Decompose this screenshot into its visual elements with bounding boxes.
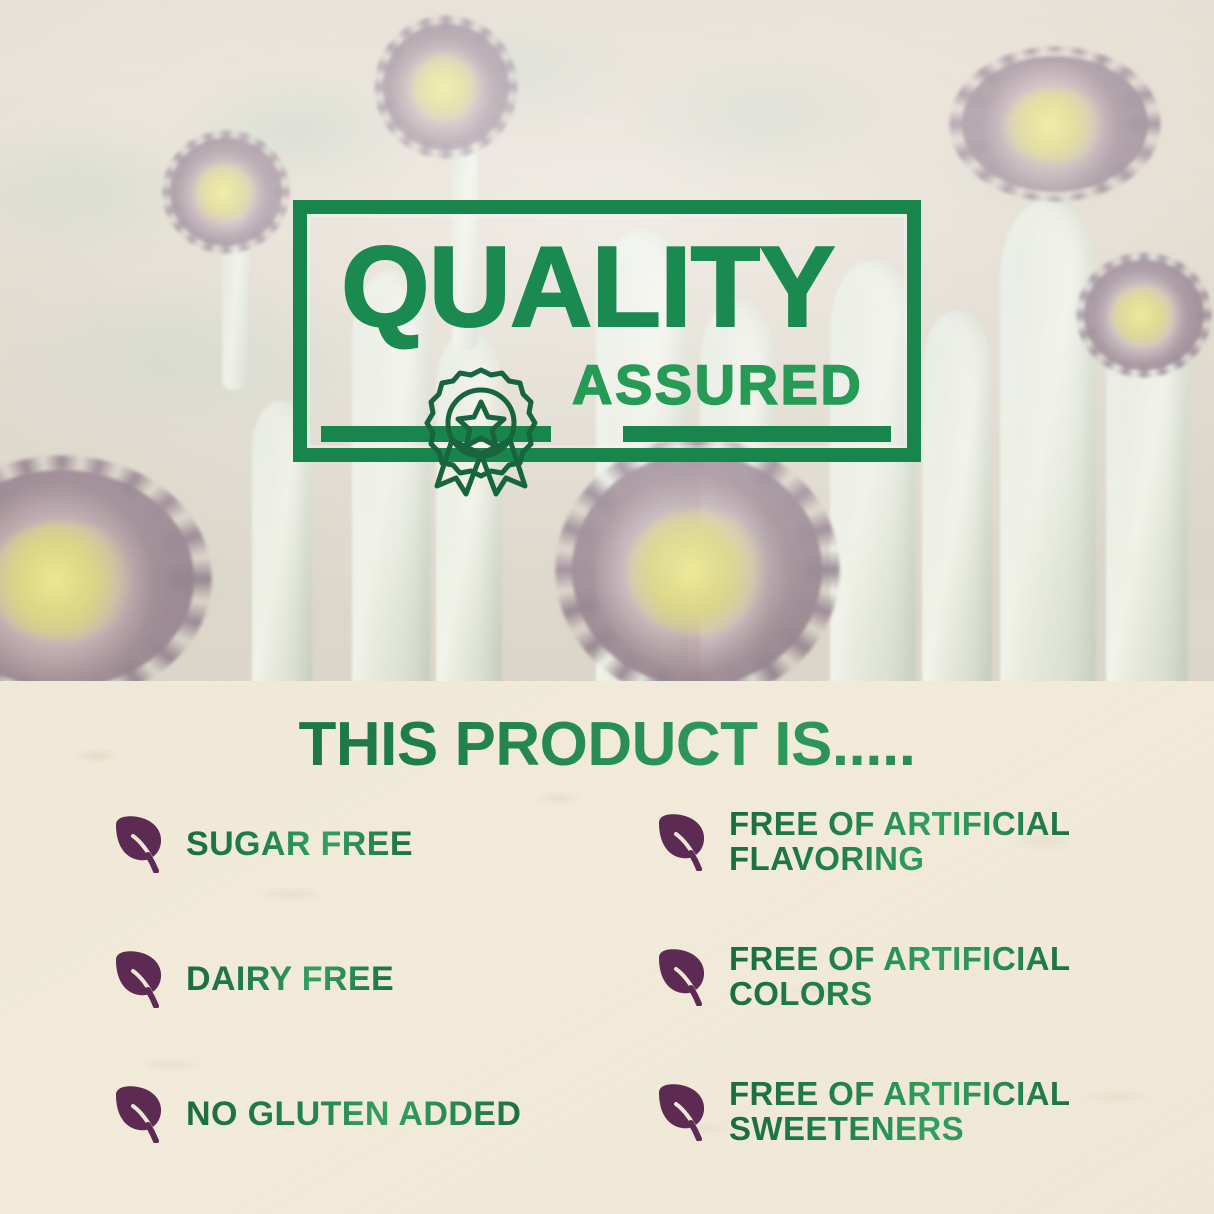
list-item-label: FREE OF ARTIFICIAL FLAVORING <box>729 807 1070 877</box>
list-item-label: NO GLUTEN ADDED <box>186 1096 521 1132</box>
product-claims-graphic: QUALITY ASSURED THIS <box>0 0 1214 1214</box>
list-item: NO GLUTEN ADDED <box>112 1085 632 1143</box>
claims-panel: THIS PRODUCT IS..... SUGAR FREE DAIRY FR… <box>0 681 1214 1214</box>
list-item: FREE OF ARTIFICIAL SWEETENERS <box>655 1077 1175 1147</box>
hero-photo: QUALITY ASSURED <box>0 0 1214 681</box>
leaf-icon <box>655 1083 707 1141</box>
list-item: FREE OF ARTIFICIAL COLORS <box>655 942 1175 1012</box>
award-ribbon-icon <box>419 362 543 498</box>
leaf-icon <box>655 948 707 1006</box>
leaf-icon <box>112 950 164 1008</box>
assured-word: ASSURED <box>572 352 863 417</box>
page-title: THIS PRODUCT IS..... <box>0 709 1214 780</box>
list-item-label: FREE OF ARTIFICIAL COLORS <box>729 942 1070 1012</box>
leaf-icon <box>655 813 707 871</box>
list-item: DAIRY FREE <box>112 950 632 1008</box>
claims-grid: SUGAR FREE DAIRY FREE NO GLUTEN ADDED <box>0 799 1214 1199</box>
list-item: SUGAR FREE <box>112 815 632 873</box>
list-item-label: DAIRY FREE <box>186 961 394 997</box>
leaf-icon <box>112 815 164 873</box>
list-item: FREE OF ARTIFICIAL FLAVORING <box>655 807 1175 877</box>
list-item-label: SUGAR FREE <box>186 826 413 862</box>
leaf-icon <box>112 1085 164 1143</box>
emblem-bottom-bar-right <box>623 426 891 442</box>
list-item-label: FREE OF ARTIFICIAL SWEETENERS <box>729 1077 1070 1147</box>
quality-word: QUALITY <box>341 236 834 341</box>
quality-assured-emblem: QUALITY ASSURED <box>293 200 921 462</box>
